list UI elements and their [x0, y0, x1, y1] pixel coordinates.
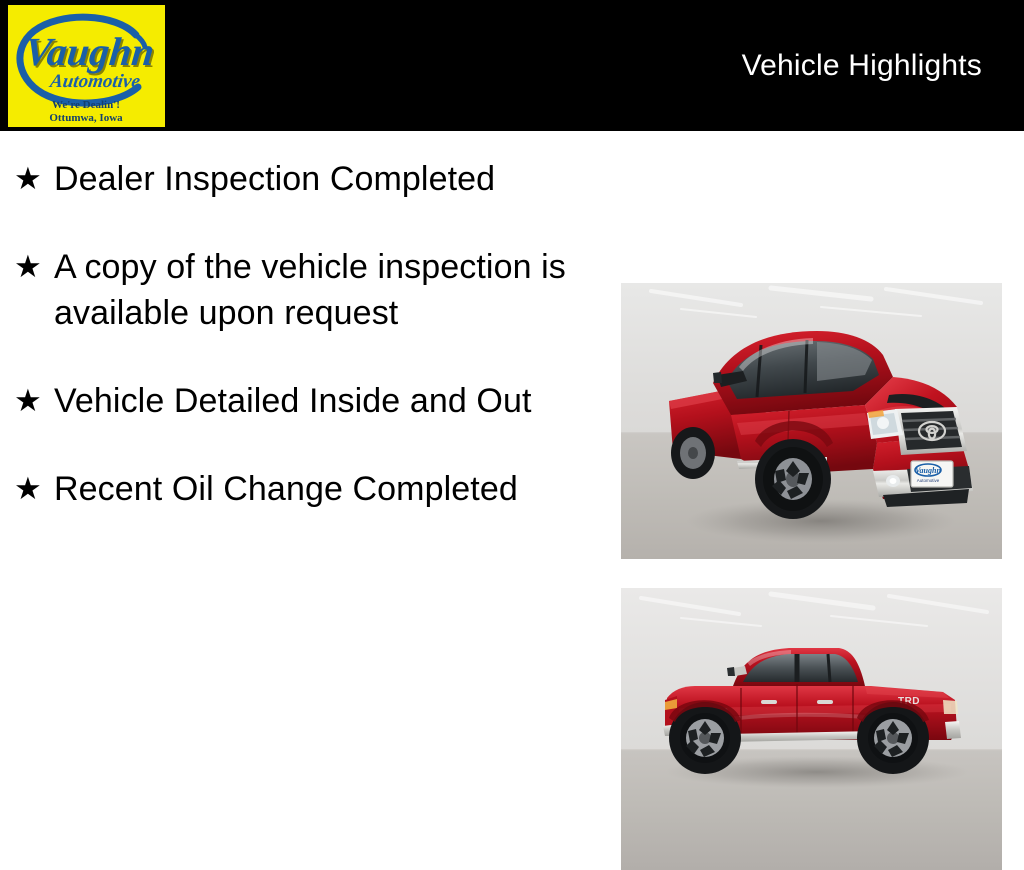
vehicle-photo-side-profile[interactable]: TRD TUNDRA [621, 588, 1002, 870]
rear-wheel [671, 427, 715, 479]
list-item-label: A copy of the vehicle inspection is avai… [54, 244, 594, 336]
svg-text:We're Dealin'!: We're Dealin'! [52, 99, 120, 111]
slide-body: ★ Dealer Inspection Completed ★ A copy o… [0, 131, 1024, 768]
list-item: ★ Dealer Inspection Completed [14, 156, 594, 202]
svg-text:Automotive: Automotive [48, 71, 142, 92]
svg-text:Vaughn: Vaughn [23, 29, 157, 74]
list-item: ★ Recent Oil Change Completed [14, 466, 594, 512]
highlights-list: ★ Dealer Inspection Completed ★ A copy o… [14, 156, 594, 512]
star-icon: ★ [14, 378, 54, 424]
vaughn-automotive-logo-icon: Vaughn Vaughn Automotive We're Dealin'! … [8, 5, 165, 127]
vehicle-photo-front-three-quarter[interactable]: Vaughn Automotive [621, 283, 1002, 559]
truck-front-image: Vaughn Automotive [621, 283, 1002, 559]
star-icon: ★ [14, 466, 54, 512]
list-item-label: Dealer Inspection Completed [54, 156, 594, 202]
svg-text:Ottumwa, Iowa: Ottumwa, Iowa [49, 112, 123, 124]
star-icon: ★ [14, 156, 54, 202]
truck-side-image: TRD TUNDRA [621, 588, 1002, 870]
front-wheel [755, 439, 831, 519]
list-item-label: Vehicle Detailed Inside and Out [54, 378, 594, 424]
slide-header: Vaughn Vaughn Automotive We're Dealin'! … [0, 0, 1024, 131]
svg-text:Automotive: Automotive [917, 478, 940, 483]
star-icon: ★ [14, 244, 54, 290]
list-item: ★ A copy of the vehicle inspection is av… [14, 244, 594, 336]
svg-text:Vaughn: Vaughn [915, 466, 941, 475]
list-item: ★ Vehicle Detailed Inside and Out [14, 378, 594, 424]
list-item-label: Recent Oil Change Completed [54, 466, 594, 512]
page-title: Vehicle Highlights [742, 49, 982, 83]
dealer-plate: Vaughn Automotive [911, 461, 953, 487]
dealer-logo: Vaughn Vaughn Automotive We're Dealin'! … [8, 5, 165, 127]
